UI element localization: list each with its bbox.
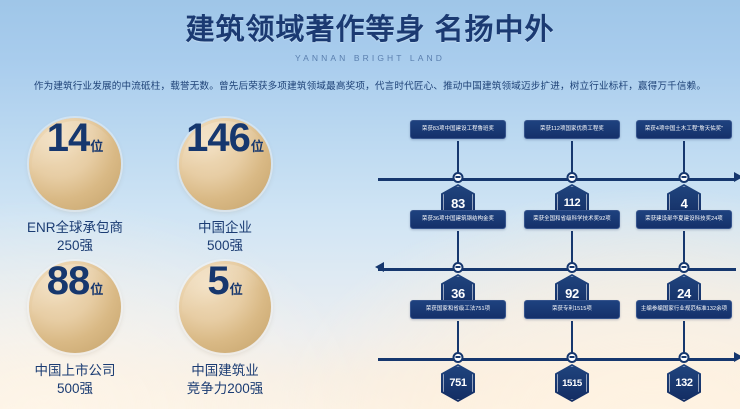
award-count: 4: [681, 196, 688, 211]
award-badge: 1515: [555, 364, 589, 402]
stat-caption-line2: 500强: [35, 380, 116, 398]
timeline-node[interactable]: 荣获83项中国建设工程鲁班奖 83: [410, 120, 506, 139]
hexagon-inner-border: 1515: [557, 366, 587, 400]
stat-number: 5: [207, 261, 228, 301]
stat-number: 14: [47, 118, 90, 158]
node-dot-icon: [679, 172, 690, 183]
node-stem: [571, 141, 573, 174]
node-dot-icon: [453, 172, 464, 183]
hexagon-inner-border: 132: [669, 366, 699, 400]
stat-number: 88: [47, 261, 90, 301]
node-stem: [457, 141, 459, 174]
timeline-node[interactable]: 荣获国家和省级工法751项 751: [410, 300, 506, 319]
award-card-label: 荣获36项中国建筑钢结构金奖: [410, 210, 506, 229]
stat-unit: 位: [230, 279, 243, 298]
award-count: 92: [565, 286, 579, 301]
award-count: 751: [449, 377, 466, 389]
node-stem: [457, 321, 459, 354]
award-card-label: 荣获112项国家优质工程奖: [524, 120, 620, 139]
award-count: 24: [677, 286, 691, 301]
node-stem: [457, 231, 459, 264]
hexagon-shape: 751: [441, 364, 475, 402]
award-count: 1515: [562, 378, 582, 389]
node-dot-icon: [567, 352, 578, 363]
stat-item: 14 位 ENR全球承包商 250强: [0, 118, 150, 255]
stat-caption-line1: 中国上市公司: [35, 362, 116, 380]
node-stem: [571, 321, 573, 354]
award-card-label: 荣获国家和省级工法751项: [410, 300, 506, 319]
award-count: 36: [451, 286, 465, 301]
promo-banner: 建筑领域著作等身 名扬中外 YANNAN BRIGHT LAND 作为建筑行业发…: [0, 0, 740, 409]
hexagon-shape: 132: [667, 364, 701, 402]
stat-unit: 位: [90, 136, 103, 155]
timeline-node[interactable]: 荣获36项中国建筑钢结构金奖 36: [410, 210, 506, 229]
arrow-left-icon: [375, 262, 384, 272]
stat-item: 88 位 中国上市公司 500强: [0, 261, 150, 398]
stat-caption-line1: 中国企业: [198, 219, 252, 237]
stat-caption: 中国上市公司 500强: [35, 362, 116, 398]
node-dot-icon: [453, 352, 464, 363]
timeline-node[interactable]: 荣获4项中国土木工程“詹天佑奖” 4: [636, 120, 732, 139]
arrow-right-icon: [734, 172, 740, 182]
hexagon-shape: 1515: [555, 364, 589, 402]
stat-caption-line2: 250强: [27, 237, 123, 255]
stat-caption-line2: 竞争力200强: [187, 380, 264, 398]
node-dot-icon: [453, 262, 464, 273]
stat-caption-line2: 500强: [198, 237, 252, 255]
stat-coin: 5 位: [179, 261, 271, 353]
brand-subtitle: YANNAN BRIGHT LAND: [0, 53, 740, 63]
node-stem: [683, 141, 685, 174]
award-count: 132: [675, 377, 692, 389]
award-count: 112: [564, 197, 581, 209]
node-dot-icon: [679, 262, 690, 273]
header: 建筑领域著作等身 名扬中外 YANNAN BRIGHT LAND: [0, 0, 740, 63]
timeline-node[interactable]: 荣获建设部华夏建设科技奖24项 24: [636, 210, 732, 229]
timeline-node[interactable]: 主编参编国家行业规范标准132余项 132: [636, 300, 732, 319]
stat-unit: 位: [251, 136, 264, 155]
stat-item: 5 位 中国建筑业 竞争力200强: [150, 261, 300, 398]
award-card-label: 荣获建设部华夏建设科技奖24项: [636, 210, 732, 229]
stat-item: 146 位 中国企业 500强: [150, 118, 300, 255]
award-count: 83: [451, 196, 465, 211]
stat-caption-line1: 中国建筑业: [187, 362, 264, 380]
timeline-node[interactable]: 荣获112项国家优质工程奖 112: [524, 120, 620, 139]
timeline-node[interactable]: 荣获专利1515项 1515: [524, 300, 620, 319]
stat-caption: ENR全球承包商 250强: [27, 219, 123, 255]
award-card-label: 主编参编国家行业规范标准132余项: [636, 300, 732, 319]
arrow-right-icon: [734, 352, 740, 362]
stat-unit: 位: [90, 279, 103, 298]
award-card-label: 荣获全国和省级科学技术奖92项: [524, 210, 620, 229]
award-card-label: 荣获专利1515项: [524, 300, 620, 319]
node-stem: [683, 231, 685, 264]
awards-timeline: 荣获83项中国建设工程鲁班奖 83 荣获112项国家优质工程奖: [378, 120, 740, 400]
page-title: 建筑领域著作等身 名扬中外: [0, 14, 740, 47]
timeline-row: 荣获国家和省级工法751项 751 荣获专利1515项: [378, 300, 740, 390]
award-badge: 132: [667, 364, 701, 402]
intro-description: 作为建筑行业发展的中流砥柱，载誉无数。曾先后荣获多项建筑领域最高奖项，代言时代匠…: [0, 78, 740, 92]
node-stem: [683, 321, 685, 354]
node-dot-icon: [567, 262, 578, 273]
stat-number: 146: [186, 118, 250, 158]
stat-coin: 146 位: [179, 118, 271, 210]
stat-coin: 88 位: [29, 261, 121, 353]
node-dot-icon: [567, 172, 578, 183]
stat-caption-line1: ENR全球承包商: [27, 219, 123, 237]
node-stem: [571, 231, 573, 264]
stats-grid: 14 位 ENR全球承包商 250强 146 位 中国企业 500强 88 位: [0, 118, 300, 398]
node-dot-icon: [679, 352, 690, 363]
stat-caption: 中国企业 500强: [198, 219, 252, 255]
award-badge: 751: [441, 364, 475, 402]
award-card-label: 荣获4项中国土木工程“詹天佑奖”: [636, 120, 732, 139]
hexagon-inner-border: 751: [443, 366, 473, 400]
timeline-row: 荣获36项中国建筑钢结构金奖 36 荣获全国和省级科学技术奖92项: [378, 210, 740, 300]
timeline-node[interactable]: 荣获全国和省级科学技术奖92项 92: [524, 210, 620, 229]
stat-coin: 14 位: [29, 118, 121, 210]
timeline-row: 荣获83项中国建设工程鲁班奖 83 荣获112项国家优质工程奖: [378, 120, 740, 210]
award-card-label: 荣获83项中国建设工程鲁班奖: [410, 120, 506, 139]
stat-caption: 中国建筑业 竞争力200强: [187, 362, 264, 398]
